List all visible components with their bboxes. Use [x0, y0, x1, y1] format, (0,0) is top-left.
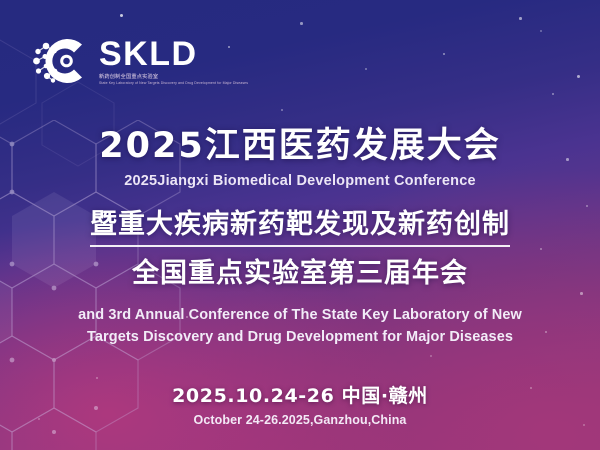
- date-venue-en: October 24-26.2025,Ganzhou,China: [0, 413, 600, 427]
- logo-wordmark: SKLD: [99, 37, 248, 71]
- date-venue-cn: 2025.10.24-26 中国·赣州: [0, 381, 600, 408]
- title-block: 2025江西医药发展大会 2025Jiangxi Biomedical Deve…: [0, 126, 600, 349]
- molecular-c-logo-icon: [30, 30, 92, 92]
- logo-english-name: State Key Laboratory of New Targets Disc…: [99, 81, 248, 86]
- subtitle-en-line1: and 3rd Annual Conference of The State K…: [0, 304, 600, 326]
- subtitle-cn-line1-wrap: 暨重大疾病新药靶发现及新药创制: [0, 207, 600, 247]
- main-title-cn: 2025江西医药发展大会: [0, 126, 600, 167]
- main-title-en: 2025Jiangxi Biomedical Development Confe…: [0, 173, 600, 189]
- date-venue-block: 2025.10.24-26 中国·赣州 October 24-26.2025,G…: [0, 381, 600, 427]
- subtitle-en-block: and 3rd Annual Conference of The State K…: [0, 304, 600, 349]
- conference-poster: SKLD 新药创制全国重点实验室 State Key Laboratory of…: [0, 0, 600, 450]
- subtitle-cn-line1: 暨重大疾病新药靶发现及新药创制: [90, 207, 510, 247]
- logo-chinese-name: 新药创制全国重点实验室: [99, 74, 248, 81]
- subtitle-cn-line2: 全国重点实验室第三届年会: [0, 256, 600, 291]
- subtitle-block: 暨重大疾病新药靶发现及新药创制 全国重点实验室第三届年会: [0, 207, 600, 291]
- subtitle-en-line2: Targets Discovery and Drug Development f…: [0, 326, 600, 348]
- skld-logo: SKLD 新药创制全国重点实验室 State Key Laboratory of…: [30, 30, 248, 92]
